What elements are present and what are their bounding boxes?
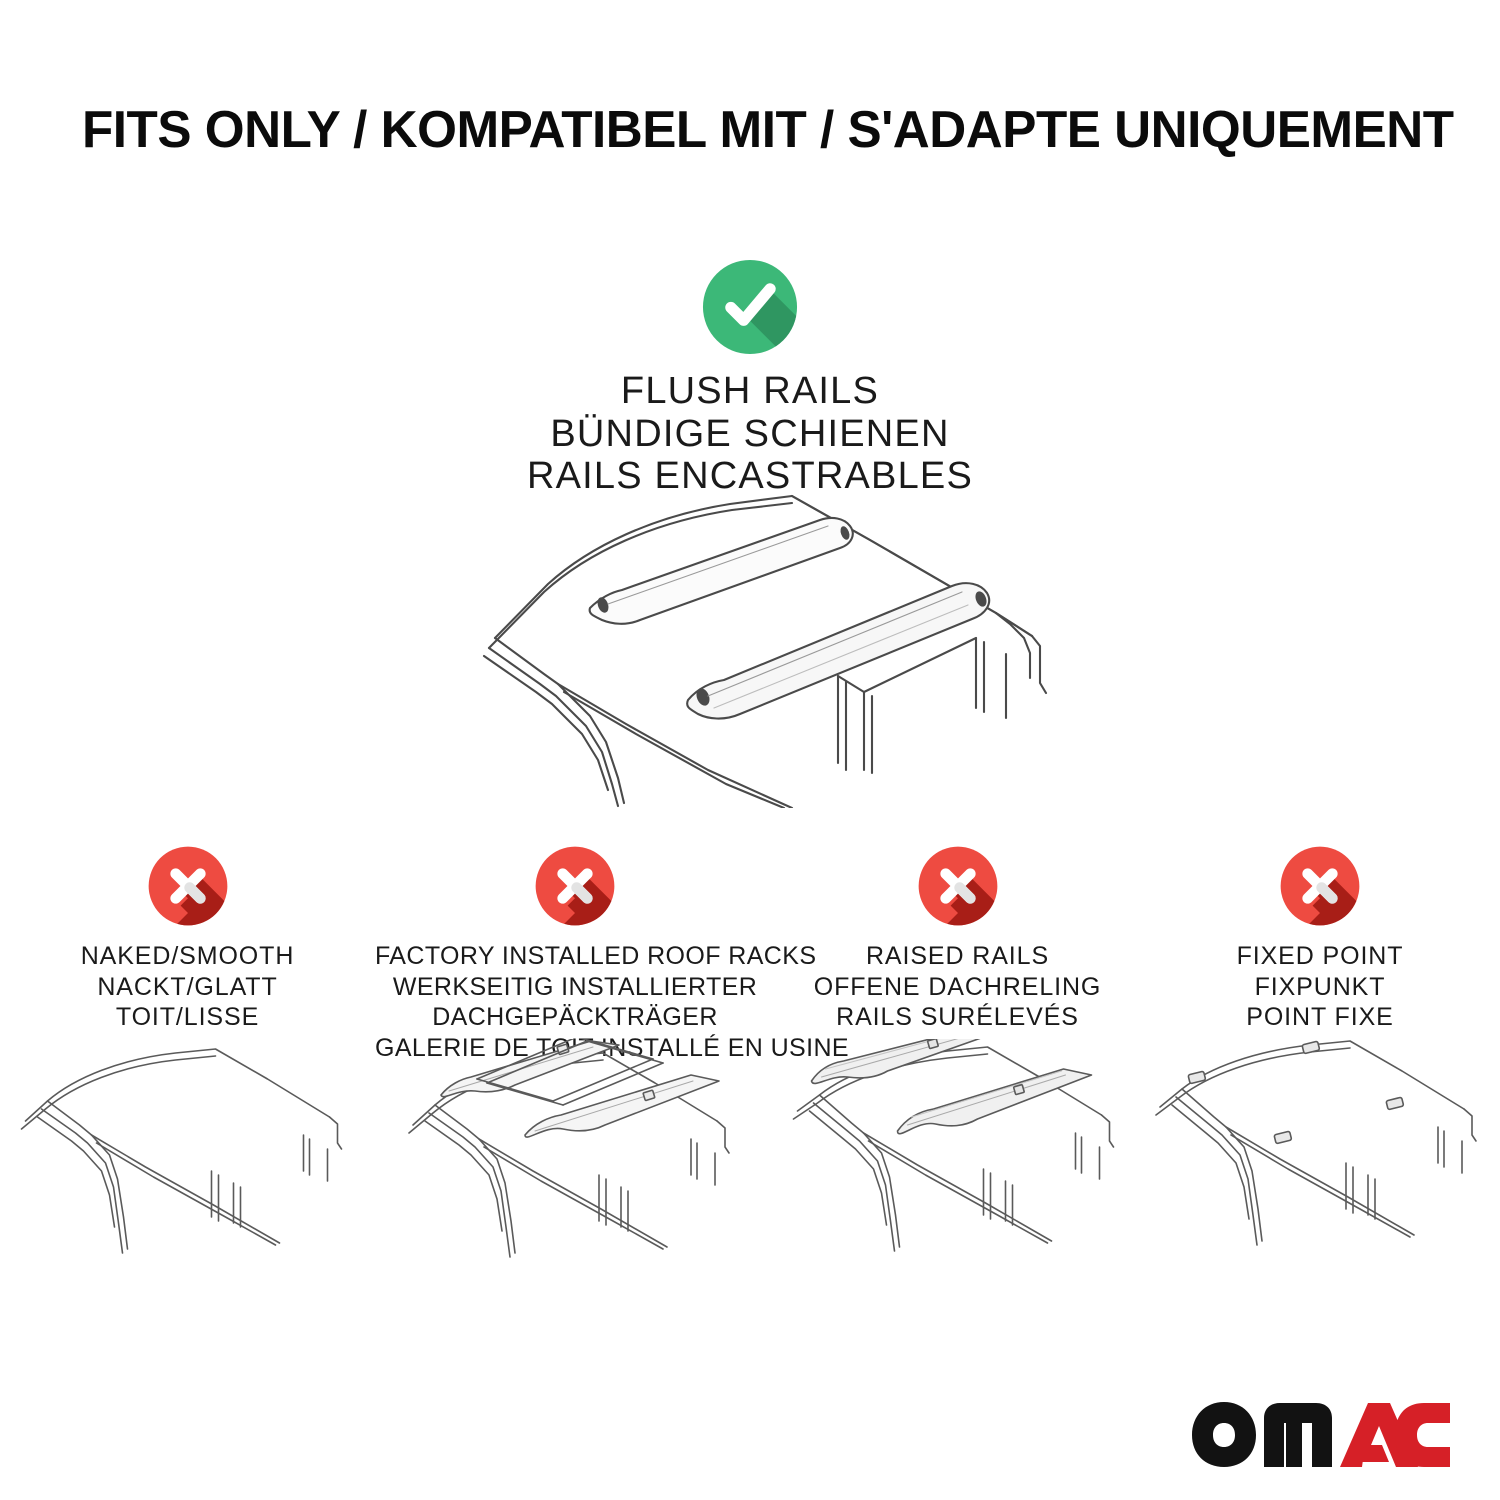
car-roof-raised-rails-illustration — [775, 1039, 1140, 1289]
x-circle-icon — [534, 845, 616, 927]
car-roof-factory-roof-racks-illustration — [375, 1039, 775, 1289]
incompatible-item-raised-rails: RAISED RAILS OFFENE DACHRELING RAILS SUR… — [775, 845, 1140, 1289]
incompatible-item-factory-roof-racks: FACTORY INSTALLED ROOF RACKS WERKSEITIG … — [375, 845, 775, 1289]
omac-letter-c — [1395, 1403, 1450, 1467]
incompatible-labels-fixed-point: FIXED POINT FIXPUNKT POINT FIXE — [1140, 941, 1500, 1033]
car-roof-naked-smooth-illustration — [0, 1039, 375, 1289]
car-roof-flush-rails-illustration — [440, 478, 1080, 808]
label-line-en: RAISED RAILS — [775, 941, 1140, 972]
compatible-label-de: BÜNDIGE SCHIENEN — [0, 413, 1500, 456]
incompatible-labels-naked-smooth: NAKED/SMOOTH NACKT/GLATT TOIT/LISSE — [0, 941, 375, 1033]
label-line-de: NACKT/GLATT — [0, 972, 375, 1003]
incompatible-labels-raised-rails: RAISED RAILS OFFENE DACHRELING RAILS SUR… — [775, 941, 1140, 1033]
x-circle-icon — [147, 845, 229, 927]
label-line-de-1: WERKSEITIG INSTALLIERTER — [375, 972, 775, 1003]
check-circle-icon — [701, 258, 799, 356]
omac-logo — [1190, 1396, 1452, 1472]
incompatible-labels-factory-roof-racks: FACTORY INSTALLED ROOF RACKS WERKSEITIG … — [375, 941, 775, 1063]
incompatible-item-naked-smooth: NAKED/SMOOTH NACKT/GLATT TOIT/LISSE — [0, 845, 375, 1289]
label-line-de-2: DACHGEPÄCKTRÄGER — [375, 1002, 775, 1033]
x-circle-icon — [917, 845, 999, 927]
label-line-en: NAKED/SMOOTH — [0, 941, 375, 972]
label-line-fr: TOIT/LISSE — [0, 1002, 375, 1033]
compatible-section: FLUSH RAILS BÜNDIGE SCHIENEN RAILS ENCAS… — [0, 258, 1500, 498]
page-title: FITS ONLY / KOMPATIBEL MIT / S'ADAPTE UN… — [82, 104, 1402, 156]
x-circle-icon — [1279, 845, 1361, 927]
label-line-fr: RAILS SURÉLEVÉS — [775, 1002, 1140, 1033]
label-line-en: FACTORY INSTALLED ROOF RACKS — [375, 941, 775, 972]
car-roof-fixed-point-illustration — [1140, 1039, 1500, 1289]
compatible-label-en: FLUSH RAILS — [0, 370, 1500, 413]
incompatible-section: NAKED/SMOOTH NACKT/GLATT TOIT/LISSE — [0, 845, 1500, 1289]
incompatible-item-fixed-point: FIXED POINT FIXPUNKT POINT FIXE — [1140, 845, 1500, 1289]
label-line-de: OFFENE DACHRELING — [775, 972, 1140, 1003]
label-line-de: FIXPUNKT — [1140, 972, 1500, 1003]
label-line-fr: POINT FIXE — [1140, 1002, 1500, 1033]
label-line-en: FIXED POINT — [1140, 941, 1500, 972]
omac-letter-m — [1264, 1403, 1332, 1467]
omac-letter-o — [1192, 1402, 1256, 1467]
